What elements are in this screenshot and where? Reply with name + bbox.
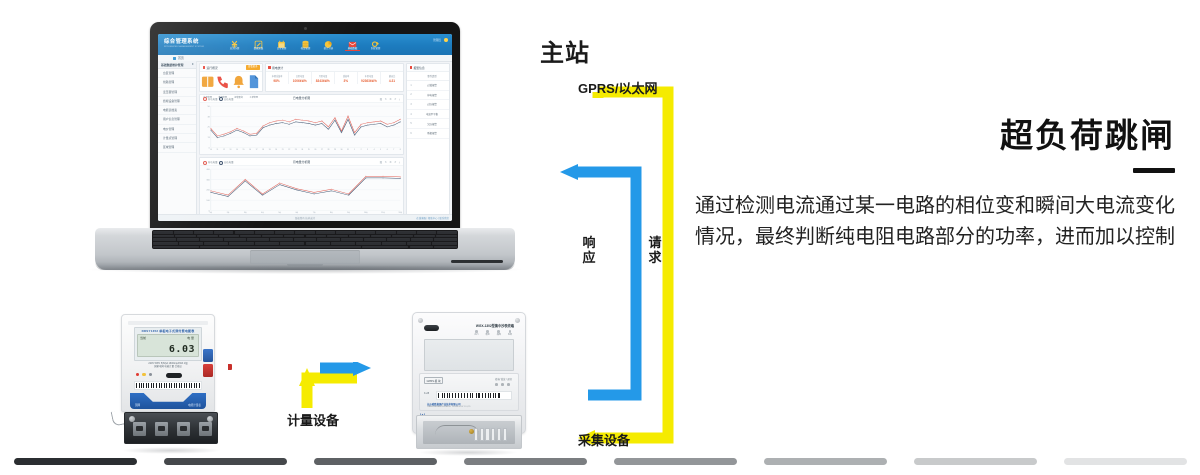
kpi-value-2: 8343kWh: [312, 79, 334, 83]
collection-device-label: 采集设备: [578, 430, 630, 449]
svg-text:100: 100: [206, 200, 209, 202]
svg-text:25: 25: [208, 126, 210, 128]
app-user-area[interactable]: 管理员: [433, 38, 448, 42]
led-icon: [475, 330, 478, 333]
table-row[interactable]: 1 过载报警: [407, 81, 449, 91]
screw-icon: [515, 318, 520, 323]
svg-text:10: 10: [210, 149, 212, 151]
collector-header: WGX-1302型集中抄表终端 运行 通讯 故障 电源: [424, 323, 514, 336]
kpi-cell-5: 峰谷比 4.31: [381, 72, 403, 84]
keyboard-row: [153, 246, 456, 249]
collector-led-1: 通讯: [486, 330, 490, 336]
pie-chart-icon: [324, 36, 333, 45]
svg-text:400: 400: [206, 169, 209, 171]
led-gray-icon: [149, 373, 152, 376]
keyboard-row: [153, 235, 456, 238]
collector-led-0: 运行: [474, 330, 478, 336]
collector-brand-en: CHANGSHA WASION ENERGY TECHNOLOGY CO.,LT…: [427, 406, 471, 408]
meter-button[interactable]: [166, 373, 182, 378]
svg-text:20: 20: [275, 149, 277, 151]
meter-seal-tab: [228, 364, 232, 370]
terminal-inner: [423, 421, 515, 444]
terminal-pins: [474, 428, 507, 441]
strip-segment-5: [764, 458, 887, 465]
keyboard-row: [153, 238, 456, 241]
collector-title: WGX-1302型集中抄表终端: [476, 323, 514, 328]
row-index-4: 5: [407, 119, 415, 129]
row-index-2: 3: [407, 100, 415, 110]
strip-segment-3: [464, 458, 587, 465]
bell-icon: [231, 76, 246, 93]
kpi-key-2: 月用电量: [313, 74, 333, 78]
footer-links[interactable]: 在线客服 | 帮助中心 | 联系我们: [416, 216, 449, 220]
kpi-cell-2: 月用电量 8343kWh: [312, 72, 335, 84]
kpi-key-3: 线损率: [336, 74, 356, 78]
alarm-table-card: 报警信息 事件类型 1 过载报警: [406, 63, 450, 221]
response-label: 响应: [582, 235, 596, 265]
app-footer: 版权所有 技术支持 在线客服 | 帮助中心 | 联系我们: [158, 214, 452, 221]
card-overview: 运行概况 查看更多 抄表管理: [199, 63, 263, 92]
chart-header-monthly: 有功电量 无功电量 月电量分析图 图 ↻ ⚙ ↺ ⤓: [200, 158, 403, 166]
meter-lcd: 当前 电 量 6.03: [137, 334, 199, 357]
meter-spec-line-2: 国家电网 电能计量 合格证: [134, 366, 202, 369]
meter-side-button-red[interactable]: [203, 364, 213, 377]
chart-header-daily: 有功电量 无功电量 日电量分析图 图 ↻ ⚙ ↺ ⤓: [200, 95, 403, 103]
edit-icon: [254, 36, 263, 45]
collector-lcd: [424, 339, 514, 371]
footer-center-text: 版权所有 技术支持: [295, 216, 315, 220]
meter-spec-text: 220V 50Hz 5(60)A 1600imp/kWh 1级 国家电网 电能计…: [134, 363, 202, 371]
collector-leds: 运行 通讯 故障 电源: [474, 330, 512, 336]
app-topbar: 综合管理系统 INTEGRATED MANAGEMENT SYSTEM 业务办理: [158, 34, 452, 55]
svg-text:8: 8: [400, 149, 401, 151]
app-logo-subtext: INTEGRATED MANAGEMENT SYSTEM: [164, 46, 204, 48]
keyboard-row: [153, 242, 456, 245]
collector-led-3: 电源: [508, 330, 512, 336]
card-kpi-title: 用电统计: [272, 66, 283, 70]
chart-title-monthly: 月电量分析图: [200, 160, 403, 164]
collector-status-dots: [495, 383, 510, 386]
screw-icon: [418, 318, 423, 323]
svg-text:6: 6: [387, 149, 388, 151]
nav-item-1[interactable]: 数据采集: [250, 35, 267, 50]
svg-text:0: 0: [209, 147, 210, 149]
table-row[interactable]: 2 停电报警: [407, 90, 449, 100]
svg-text:22: 22: [288, 149, 290, 151]
headline-title: 超负荷跳闸: [695, 118, 1175, 154]
user-avatar[interactable]: [444, 38, 448, 42]
meter-top-vent: [128, 321, 208, 325]
nav-item-2[interactable]: 日常管理: [273, 35, 290, 50]
keyboard-row: [153, 231, 456, 234]
strip-segment-1: [164, 458, 287, 465]
headline-description: 通过检测电流通过某一电路的相位变和瞬间大电流变化情况，最终判断纯电阻电路部分的功…: [695, 191, 1175, 253]
svg-text:13: 13: [208, 137, 210, 139]
kpi-cell-3: 线损率 3%: [335, 72, 358, 84]
meter-brand-label: DDSY1352 单相电子式预付费电能表: [137, 329, 199, 333]
sidebar-item-5[interactable]: 用户信息管理: [158, 115, 196, 124]
sidebar-header-label: 基础数据维护管理: [161, 63, 183, 67]
laptop-screen: 综合管理系统 INTEGRATED MANAGEMENT SYSTEM 业务办理: [158, 34, 452, 221]
row-type-1: 停电报警: [415, 90, 449, 100]
svg-text:21: 21: [282, 149, 284, 151]
svg-text:27: 27: [321, 149, 323, 151]
app-logo-text: 综合管理系统: [164, 39, 199, 45]
lcd-left-label: 当前: [140, 336, 146, 340]
sidebar-menu[interactable]: 台区管理 线路管理 变压器管理 终端设备管理 电能表档案 用户信息管理 电价管理…: [158, 69, 196, 153]
single-phase-meter: DDSY1352 单相电子式预付费电能表 当前 电 量 6.03 220V 50…: [112, 312, 230, 450]
svg-text:1: 1: [354, 149, 355, 151]
table-header-row: 事件类型: [407, 72, 449, 81]
meter-footer-left: 国网: [135, 403, 140, 407]
disc-slot: [451, 260, 503, 263]
calendar-icon: [277, 36, 286, 45]
quick-action-2[interactable]: 报警查询: [231, 74, 246, 91]
chart-card-monthly: 有功电量 无功电量 月电量分析图 图 ↻ ⚙ ↺ ⤓ 4003002001000…: [199, 157, 404, 219]
nav-label-5: 基础数据: [344, 46, 360, 50]
kpi-cell-1: 日用电量 1006kWh: [289, 72, 312, 84]
table-row[interactable]: 3 过压报警: [407, 100, 449, 110]
lcd-right-label: 电 量: [187, 336, 194, 340]
svg-text:14: 14: [236, 149, 238, 151]
meter-blue-faceplate: 国网 电能计量表: [130, 393, 206, 409]
svg-text:19: 19: [269, 149, 271, 151]
laptop-shadow: [89, 265, 521, 274]
led-icon: [509, 330, 512, 333]
kpi-cell-4: 年用电量 92363kWh: [358, 72, 381, 84]
row-index-1: 2: [407, 90, 415, 100]
kpi-key-0: 本期采集率: [266, 74, 286, 78]
collector-terminal-block: [416, 415, 522, 449]
terminal-slot: [155, 422, 168, 436]
collector-right-label: 终端/ 载波 / 通讯: [495, 377, 512, 381]
sidebar-item-1[interactable]: 线路管理: [158, 78, 196, 87]
strip-segment-7: [1064, 458, 1187, 465]
led-yellow-icon: [142, 373, 145, 376]
nav-item-4[interactable]: 统计分析: [320, 35, 337, 50]
strip-segment-2: [314, 458, 437, 465]
svg-text:5: 5: [380, 149, 381, 151]
square-marker-icon: [410, 66, 413, 69]
row-index-3: 4: [407, 109, 415, 119]
card-overview-header: 运行概况 查看更多: [200, 64, 262, 72]
meter-barcode: [134, 381, 202, 390]
nav-label-3: 档案管理: [297, 46, 313, 50]
row-index-0: 1: [407, 81, 415, 91]
svg-text:15: 15: [243, 149, 245, 151]
collector-display-window: [424, 325, 439, 331]
sidebar-header: 基础数据维护管理: [158, 61, 196, 69]
led-icon: [497, 330, 500, 333]
sidebar-item-3[interactable]: 终端设备管理: [158, 97, 196, 106]
meter-display-panel: DDSY1352 单相电子式预付费电能表 当前 电 量 6.03: [134, 327, 202, 361]
laptop-illustration: 综合管理系统 INTEGRATED MANAGEMENT SYSTEM 业务办理: [95, 22, 515, 307]
card-kpi-header: 用电统计: [266, 64, 404, 72]
meter-shadow: [121, 447, 220, 454]
kpi-value-4: 92363kWh: [358, 79, 380, 83]
chart-plot-daily: 5038251301011121314151617181920212223242…: [200, 103, 403, 155]
svg-text:25: 25: [308, 149, 310, 151]
card-overview-title: 运行概况: [207, 66, 218, 70]
strip-segment-0: [14, 458, 137, 465]
card-kpi: 用电统计 本期采集率 98% 日用电量: [265, 63, 405, 92]
chart-plot-monthly: 40030020010001月2月3月4月5月6月7月8月9月10月11月12月: [200, 166, 403, 218]
chevron-right-icon: [192, 63, 194, 65]
wasion-logo-icon: [420, 404, 425, 408]
currency-icon: [230, 36, 239, 45]
collector-shadow: [418, 449, 519, 456]
row-type-2: 过压报警: [415, 100, 449, 110]
svg-text:3: 3: [367, 149, 368, 151]
phone-icon: [215, 76, 230, 93]
svg-text:30: 30: [341, 149, 343, 151]
kpi-value-3: 3%: [335, 79, 357, 83]
kpi-value-1: 1006kWh: [289, 79, 311, 83]
user-label: 管理员: [433, 38, 441, 42]
meter-terminal-block: [124, 412, 218, 444]
chart-card-daily: 有功电量 无功电量 日电量分析图 图 ↻ ⚙ ↺ ⤓ 5038251301011…: [199, 94, 404, 156]
svg-text:13: 13: [229, 149, 231, 151]
row-type-0: 过载报警: [415, 81, 449, 91]
nav-label-2: 日常管理: [274, 46, 290, 50]
lcd-value: 6.03: [169, 344, 195, 355]
led-icon: [486, 330, 489, 333]
flow-diagram: GPRS/以太网 响应 请求 采集设备: [520, 20, 700, 465]
kpi-value-5: 4.31: [381, 79, 403, 83]
laptop-lid: 综合管理系统 INTEGRATED MANAGEMENT SYSTEM 业务办理: [150, 22, 460, 230]
svg-text:18: 18: [262, 149, 264, 151]
svg-text:29: 29: [334, 149, 336, 151]
svg-text:26: 26: [314, 149, 316, 151]
sidebar-item-4[interactable]: 电能表档案: [158, 106, 196, 115]
trackpad: [250, 250, 360, 264]
device-link-arrows: 计量设备: [275, 362, 400, 452]
kpi-key-4: 年用电量: [359, 74, 379, 78]
bottom-color-strip: [0, 458, 1200, 465]
sidebar-item-0[interactable]: 台区管理: [158, 69, 196, 78]
kpi-key-1: 日用电量: [289, 74, 309, 78]
kpi-row: 本期采集率 98% 日用电量 1006kWh 月用电量: [266, 72, 404, 84]
strip-segment-4: [614, 458, 737, 465]
svg-text:31: 31: [347, 149, 349, 151]
sidebar-item-7[interactable]: 计量点管理: [158, 134, 196, 143]
home-icon: [173, 57, 176, 60]
headline-block: 超负荷跳闸 通过检测电流通过某一电路的相位变和瞬间大电流变化情况，最终判断纯电阻…: [695, 118, 1175, 253]
nav-label-0: 业务办理: [227, 46, 243, 50]
svg-text:50: 50: [208, 106, 210, 108]
nav-item-3[interactable]: 档案管理: [297, 35, 314, 50]
svg-text:7: 7: [393, 149, 394, 151]
alarm-table-header: 报警信息: [407, 64, 449, 72]
nav-item-0[interactable]: 业务办理: [226, 35, 243, 50]
meter-footer-right: 电能计量表: [188, 403, 201, 407]
request-label: 请求: [648, 235, 662, 265]
table-row[interactable]: 5 欠压报警: [407, 119, 449, 129]
card-overview-more-button[interactable]: 查看更多: [246, 65, 260, 69]
table-row[interactable]: 6 断相报警: [407, 128, 449, 138]
management-system-app: 综合管理系统 INTEGRATED MANAGEMENT SYSTEM 业务办理: [158, 34, 452, 221]
row-index-5: 6: [407, 128, 415, 138]
svg-text:16: 16: [249, 149, 251, 151]
collector-brand: 长沙威胜能源产业技术有限公司 CHANGSHA WASION ENERGY TE…: [427, 402, 471, 408]
gprs-module-label: GPRS 模 块: [424, 377, 443, 384]
collection-terminal: WGX-1302型集中抄表终端 运行 通讯 故障 电源 GPRS 模 块 终端/…: [408, 312, 528, 452]
nav-item-5[interactable]: 基础数据: [344, 35, 361, 50]
sidebar-item-8[interactable]: 区域管理: [158, 143, 196, 152]
row-type-3: 电流不平衡: [415, 109, 449, 119]
row-type-4: 欠压报警: [415, 119, 449, 129]
table-col-type: 事件类型: [415, 72, 449, 81]
database-icon: [301, 36, 310, 45]
terminal-slot: [199, 422, 212, 436]
alarm-table-title: 报警信息: [414, 66, 425, 70]
terminal-slot: [177, 422, 190, 436]
breadcrumb-home[interactable]: 首页: [178, 56, 184, 60]
webcam-icon: [304, 27, 307, 30]
svg-text:4: 4: [374, 149, 375, 151]
quick-actions[interactable]: 抄表管理 费控管理: [200, 72, 262, 91]
svg-text:17: 17: [256, 149, 258, 151]
metering-device-label: 计量设备: [287, 410, 339, 429]
doc-icon: [246, 76, 261, 93]
table-col-index: [407, 72, 415, 81]
svg-text:200: 200: [206, 190, 209, 192]
square-marker-icon: [203, 66, 206, 69]
svg-text:38: 38: [208, 116, 210, 118]
chart-title-daily: 日电量分析图: [200, 96, 403, 100]
app-logo: 综合管理系统 INTEGRATED MANAGEMENT SYSTEM: [164, 37, 204, 48]
barcode-code-label: K-28: [424, 392, 429, 395]
quick-action-1[interactable]: 费控管理: [215, 74, 230, 91]
svg-text:300: 300: [206, 180, 209, 182]
svg-text:28: 28: [327, 149, 329, 151]
alarm-table: 事件类型 1 过载报警 2 停电报警: [407, 72, 449, 139]
svg-text:0: 0: [209, 211, 210, 213]
sidebar-item-2[interactable]: 变压器管理: [158, 88, 196, 97]
laptop-base: [95, 228, 515, 270]
chart-toolbar-monthly[interactable]: 图 ↻ ⚙ ↺ ⤓: [380, 160, 401, 164]
nav-label-4: 统计分析: [321, 46, 337, 50]
table-row[interactable]: 4 电流不平衡: [407, 109, 449, 119]
app-sidebar: 基础数据维护管理 台区管理 线路管理 变压器管理 终端设备管理 电能表档案 用户…: [158, 61, 197, 221]
nav-item-6[interactable]: 系统管理: [367, 35, 384, 50]
app-nav[interactable]: 业务办理 数据采集 日常管理: [226, 35, 384, 50]
svg-text:2: 2: [361, 149, 362, 151]
collector-barcode: [436, 391, 512, 400]
headline-divider: [1133, 168, 1175, 173]
row-type-5: 断相报警: [415, 128, 449, 138]
link-label: GPRS/以太网: [578, 78, 657, 97]
svg-text:12: 12: [223, 149, 225, 151]
square-marker-icon: [268, 66, 271, 69]
chart-toolbar-daily[interactable]: 图 ↻ ⚙ ↺ ⤓: [380, 97, 401, 101]
keyboard: [152, 230, 458, 249]
nav-label-1: 数据采集: [250, 46, 266, 50]
sidebar-item-6[interactable]: 电价管理: [158, 125, 196, 134]
svg-text:11: 11: [216, 149, 218, 151]
collector-led-2: 故障: [497, 330, 501, 336]
collector-module-panel: GPRS 模 块 终端/ 载波 / 通讯 K-28 长沙威胜能源产业技术有限公司…: [419, 373, 519, 411]
svg-text:23: 23: [295, 149, 297, 151]
meter-body: DDSY1352 单相电子式预付费电能表 当前 电 量 6.03 220V 50…: [121, 314, 215, 412]
strip-segment-6: [914, 458, 1037, 465]
kpi-cell-0: 本期采集率 98%: [266, 72, 289, 84]
gear-icon: [371, 36, 380, 45]
kpi-value-0: 98%: [266, 79, 288, 83]
nav-label-6: 系统管理: [368, 46, 384, 50]
svg-text:24: 24: [301, 149, 303, 151]
kpi-key-5: 峰谷比: [382, 74, 402, 78]
app-main: 运行概况 查看更多 抄表管理: [197, 61, 452, 221]
led-red-icon: [136, 373, 139, 376]
mail-icon: [348, 36, 357, 45]
terminal-slot: [133, 422, 146, 436]
meter-side-button-blue[interactable]: [203, 349, 213, 362]
meter-indicator-leds: [136, 373, 152, 376]
book-icon: [200, 76, 215, 93]
quick-action-0[interactable]: 抄表管理: [200, 74, 215, 91]
quick-action-3[interactable]: 工单管理: [246, 74, 261, 91]
